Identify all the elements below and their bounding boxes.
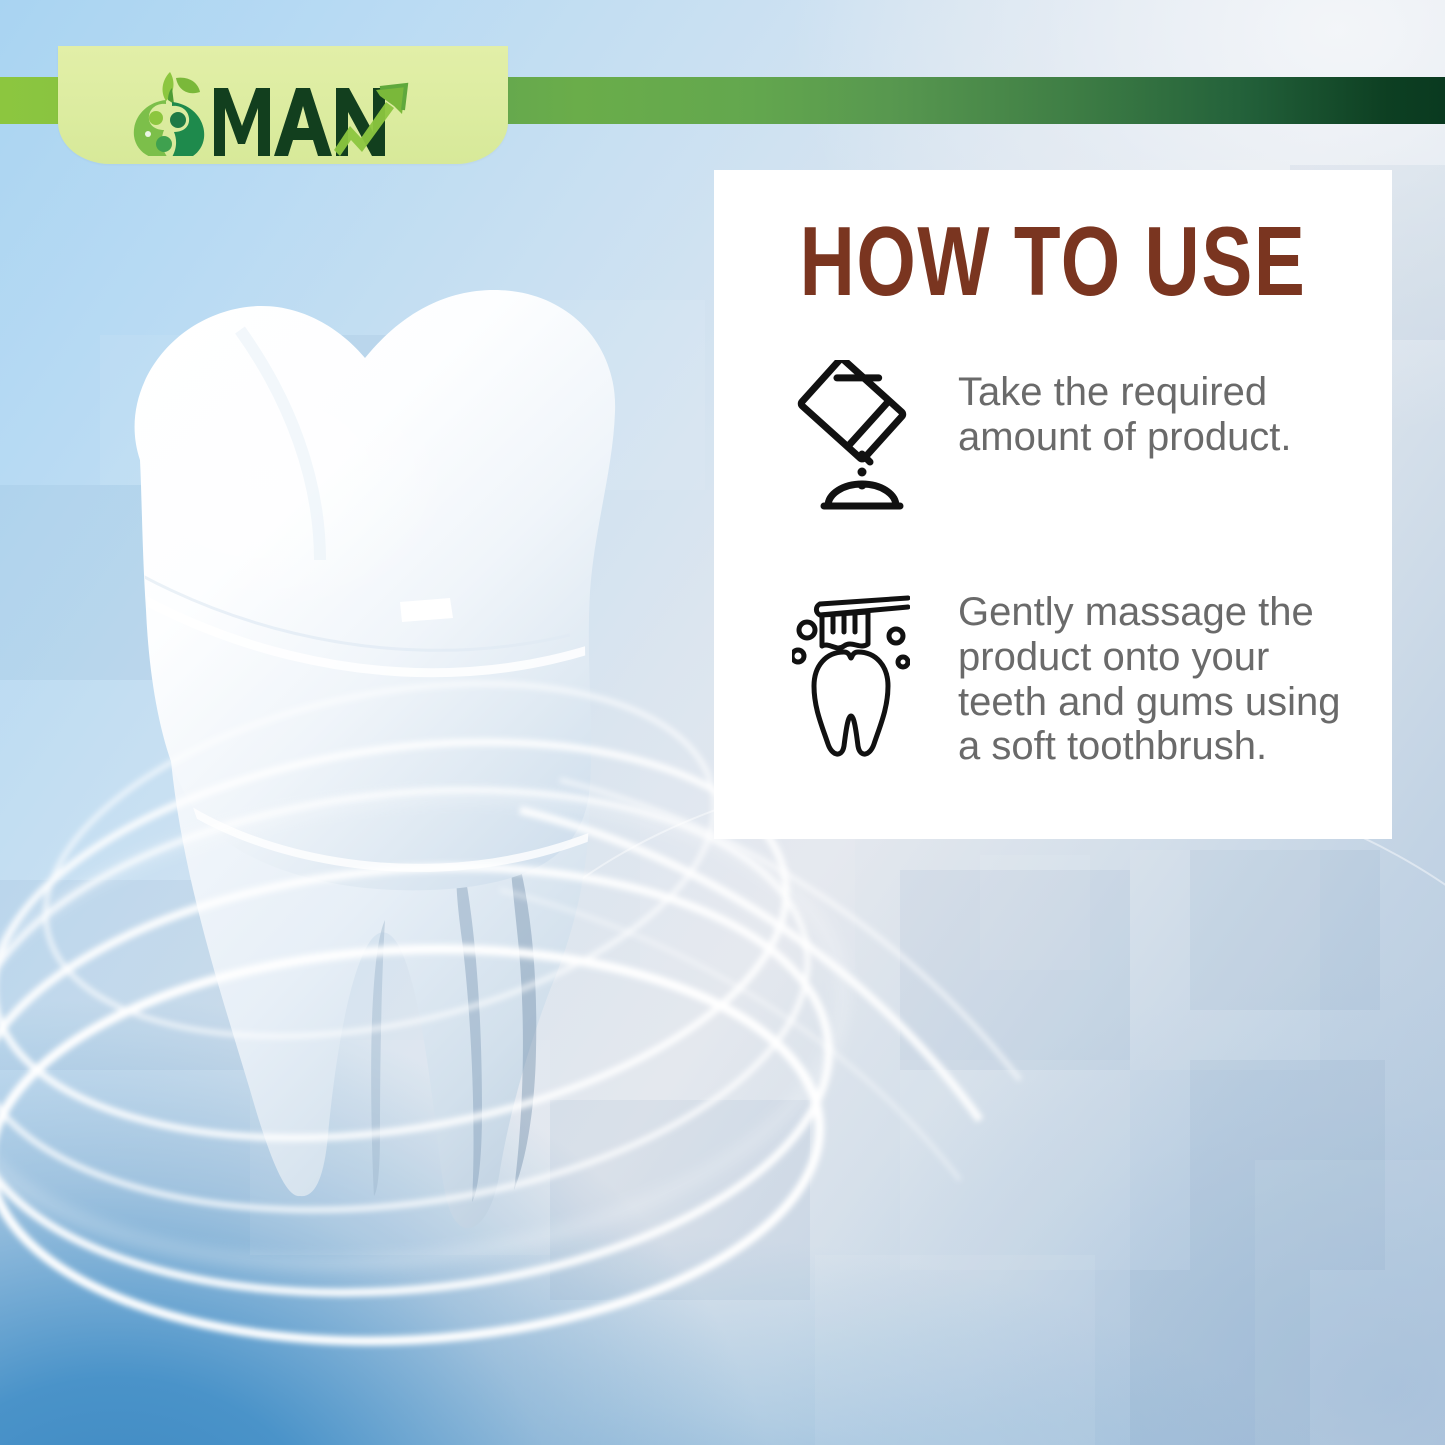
poster-canvas: HOW TO USE	[0, 0, 1445, 1445]
step-description: Take the required amount of product.	[958, 360, 1358, 460]
toothpaste-tube-dispensing-icon	[792, 360, 910, 510]
steps-list: Take the required amount of product.	[792, 360, 1358, 769]
card-title: HOW TO USE	[789, 212, 1318, 310]
tooth-with-toothbrush-icon	[792, 584, 910, 764]
step-description: Gently massage the product onto your tee…	[958, 584, 1358, 769]
step-item: Gently massage the product onto your tee…	[792, 584, 1358, 769]
brand-logo[interactable]	[118, 64, 448, 156]
step-item: Take the required amount of product.	[792, 360, 1358, 510]
how-to-use-card: HOW TO USE	[714, 170, 1392, 839]
tooth-illustration	[0, 230, 750, 1280]
brand-tag	[58, 46, 508, 164]
